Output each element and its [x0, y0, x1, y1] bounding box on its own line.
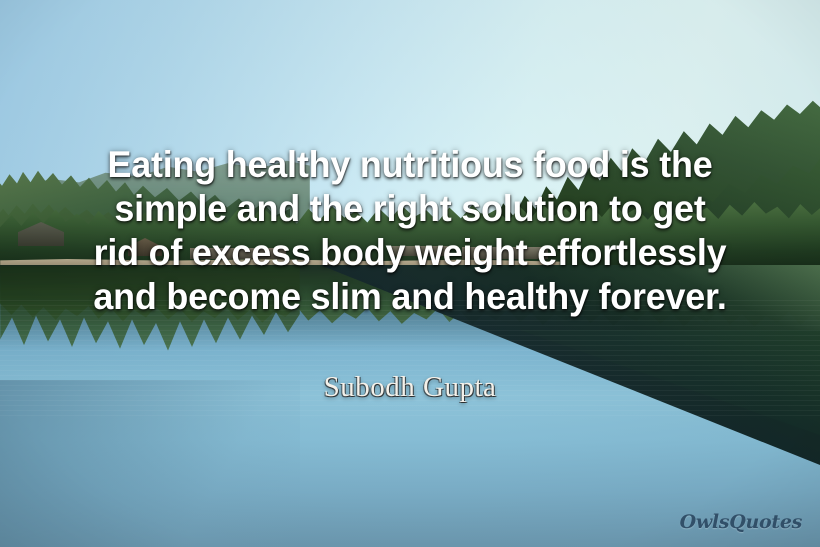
- dock-left: [190, 248, 286, 259]
- dock-right: [462, 247, 548, 259]
- quote-image-card: Eating healthy nutritious food is the si…: [0, 0, 820, 547]
- dock-middle: [390, 246, 448, 256]
- owlsquotes-watermark-logo: OwlsQuotes: [680, 511, 802, 533]
- water-left-shading: [0, 380, 300, 547]
